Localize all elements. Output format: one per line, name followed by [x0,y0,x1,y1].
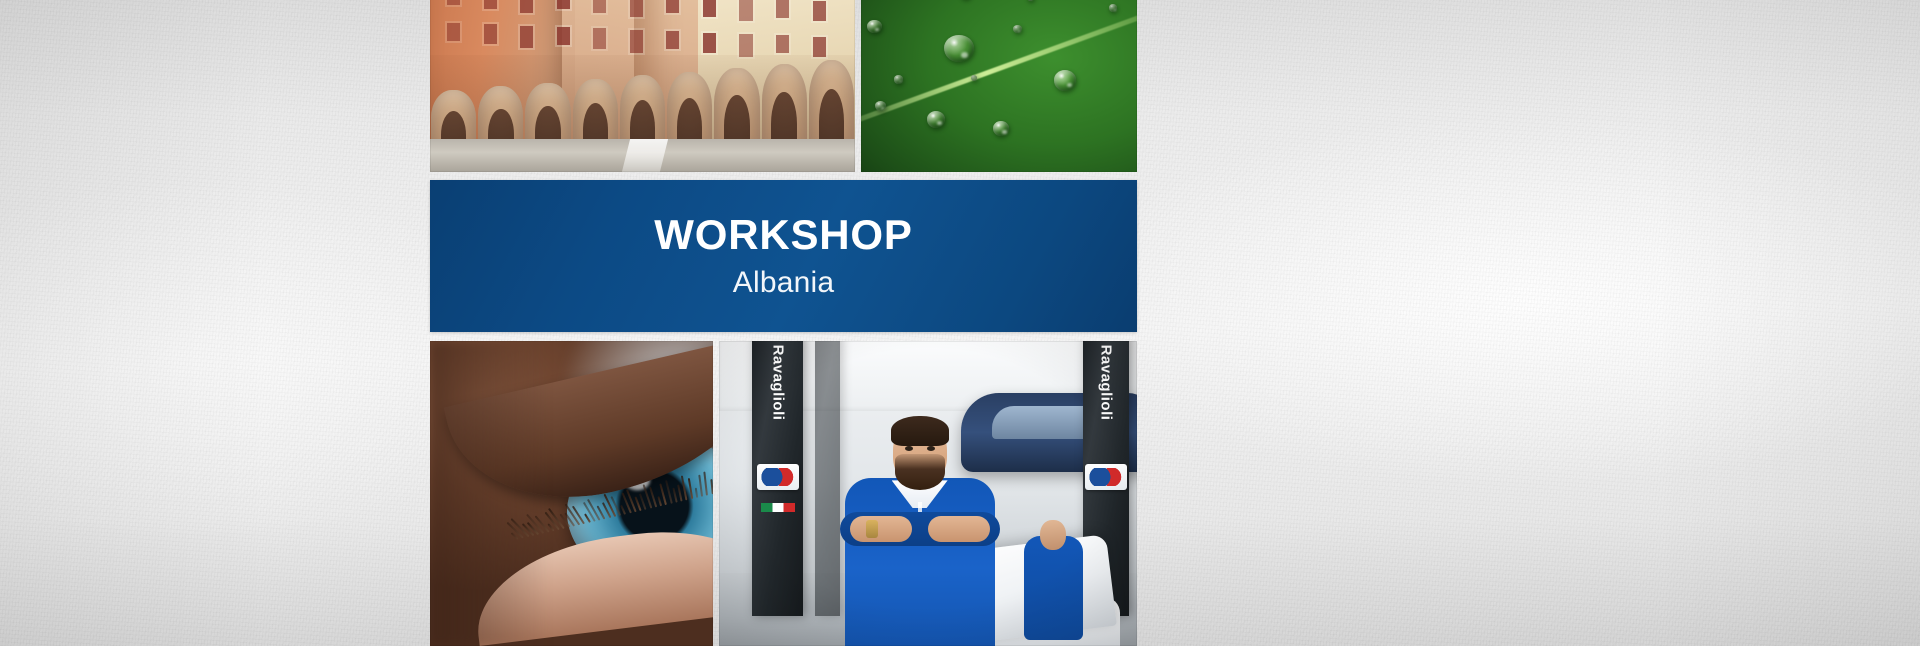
eyelash [681,476,688,501]
building-window [520,0,533,13]
building-window [739,0,752,21]
building-window [666,0,679,13]
building-window [484,0,497,9]
top-photo-row [430,0,1137,172]
leaf-waterdrops-photo [861,0,1137,172]
bottom-photo-row: Ravaglioli Ravaglioli [430,341,1137,646]
water-droplet [1013,25,1022,33]
building-window [593,28,606,48]
banner-title: WORKSHOP [654,214,912,256]
building-window [776,35,789,53]
eyelash [677,484,682,501]
building-window [630,30,643,53]
water-droplet [867,20,882,34]
eyelash [704,471,709,495]
depth-of-field-blur [430,341,549,646]
building-window [557,27,570,45]
building-window [703,0,716,17]
architecture-porticoes-photo [430,0,855,172]
street-ground [430,139,855,172]
building-window [447,23,460,41]
building-window [666,31,679,49]
eyelash [687,478,692,499]
banner-subtitle: Albania [733,267,834,299]
eyelash [694,487,698,498]
eyelash [620,505,626,515]
eyelash [672,488,677,503]
slide-page: WORKSHOP Albania Ravaglioli [0,0,1920,646]
building-window [813,37,826,57]
building-window [703,33,716,53]
slide-content-column: WORKSHOP Albania Ravaglioli [430,0,1137,646]
water-droplet [1054,70,1076,90]
building-window [776,0,789,18]
human-eye-photo [430,341,713,646]
leaf-surface [861,0,1137,172]
workshop-title-banner: WORKSHOP Albania [430,180,1137,332]
water-droplet [927,111,945,128]
building-window [557,0,570,9]
building-window [630,0,643,17]
building-window [813,1,826,21]
eyelash [698,474,703,496]
building-window [447,0,460,5]
water-droplet [894,75,903,83]
car-workshop-photo: Ravaglioli Ravaglioli [719,341,1137,646]
photo-vignette [719,341,1137,646]
eyelash [710,480,713,495]
building-window [484,24,497,44]
building-window [739,34,752,57]
water-droplet [875,101,886,111]
building-window [593,0,606,13]
eyelash [657,496,662,506]
building-window [520,26,533,49]
